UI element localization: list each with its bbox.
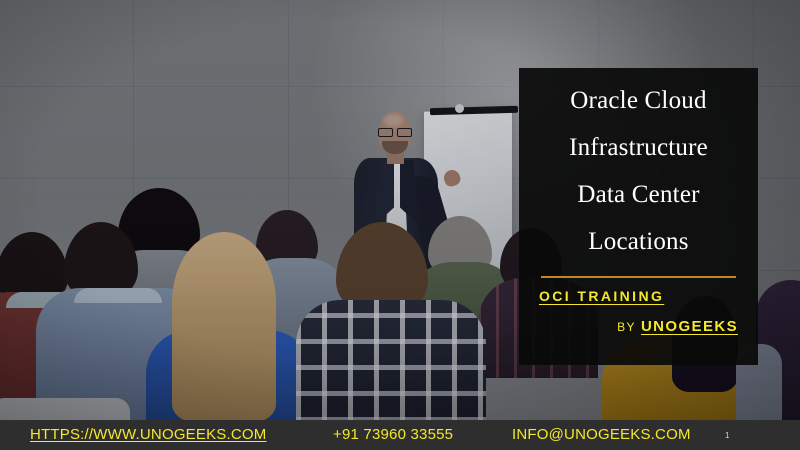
title-line-2: Infrastructure bbox=[535, 135, 742, 160]
byline-brand: UNOGEEKS bbox=[641, 318, 738, 335]
title-panel: Oracle Cloud Infrastructure Data Center … bbox=[519, 68, 758, 365]
page-number: 1 bbox=[725, 431, 729, 440]
title-line-4: Locations bbox=[535, 229, 742, 254]
slide-title: Oracle Cloud Infrastructure Data Center … bbox=[535, 88, 742, 254]
footer-website-link[interactable]: HTTPS://WWW.UNOGEEKS.COM bbox=[30, 426, 266, 443]
presentation-slide: Oracle Cloud Infrastructure Data Center … bbox=[0, 0, 800, 450]
footer-bar: HTTPS://WWW.UNOGEEKS.COM +91 73960 33555… bbox=[0, 420, 800, 450]
footer-email: INFO@UNOGEEKS.COM bbox=[512, 426, 691, 443]
byline-prefix: BY bbox=[617, 320, 636, 334]
subtitle-text: OCI TRAINING bbox=[539, 288, 664, 304]
title-divider bbox=[541, 276, 736, 278]
footer-phone: +91 73960 33555 bbox=[333, 426, 453, 443]
byline-row: BYUNOGEEKS bbox=[535, 306, 742, 336]
subtitle-row: OCI TRAINING bbox=[535, 288, 742, 306]
title-line-1: Oracle Cloud bbox=[535, 88, 742, 113]
title-line-3: Data Center bbox=[535, 182, 742, 207]
